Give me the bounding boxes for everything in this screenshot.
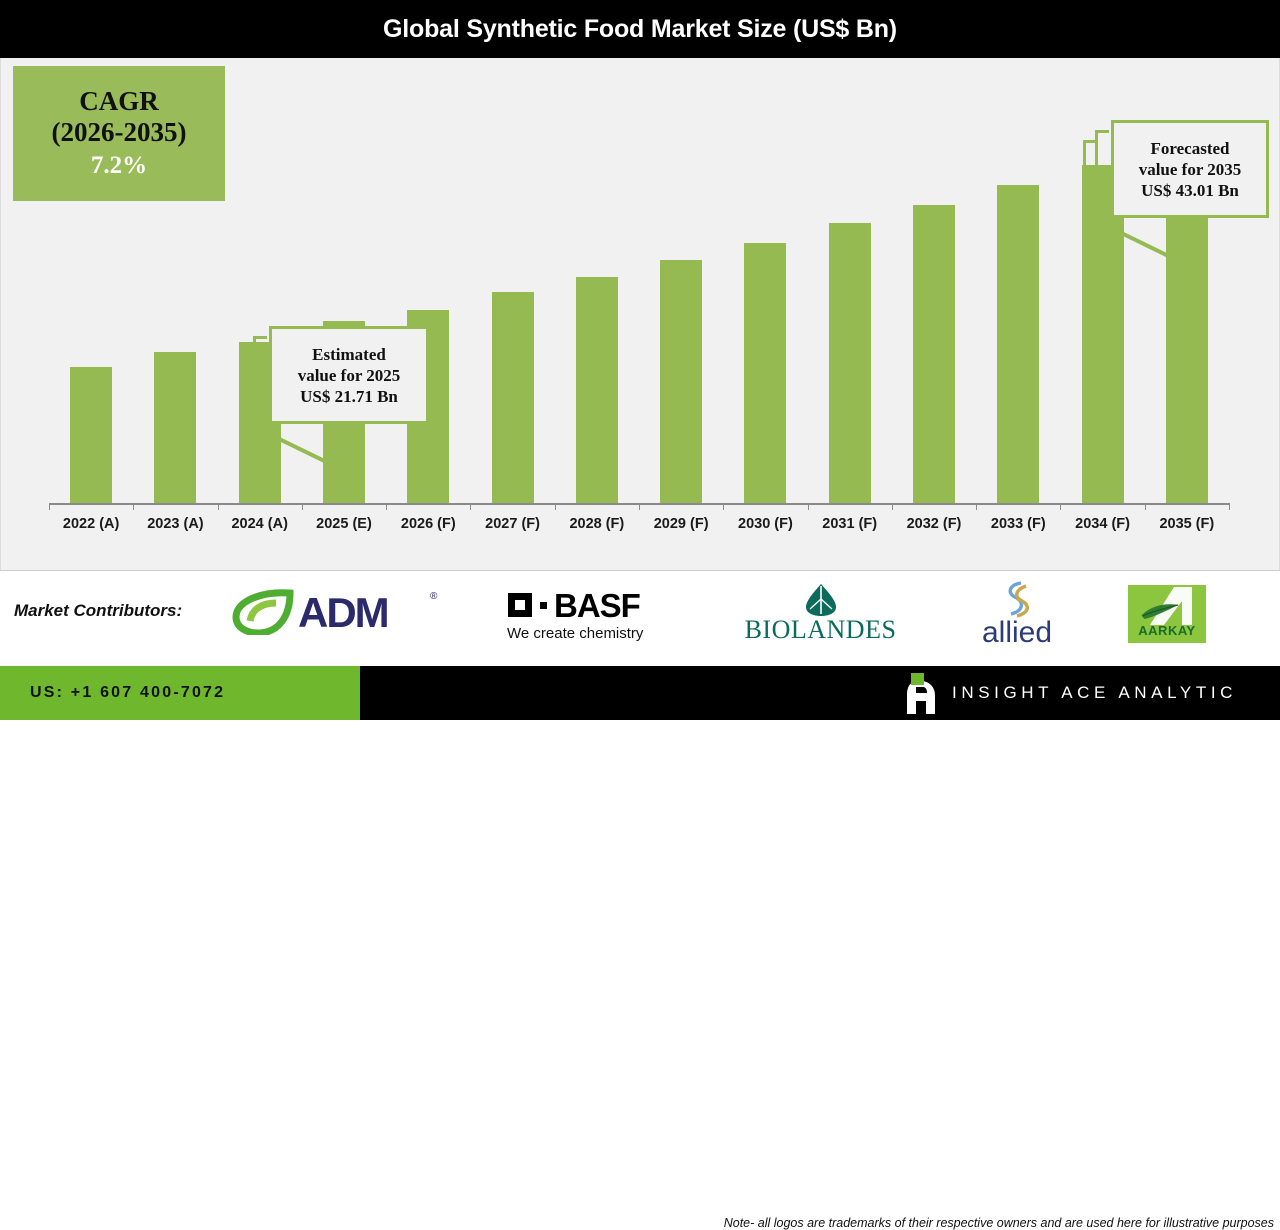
callout-2025-line1: Estimated — [312, 344, 386, 365]
chart-panel: CAGR (2026-2035) 7.2% 2022 (A)2023 (A)20… — [0, 58, 1280, 570]
aarkay-wordmark: AARKAY — [1128, 623, 1206, 638]
logo-allied: allied — [962, 583, 1072, 647]
x-label-2032: 2032 (F) — [892, 510, 976, 538]
x-label-2024: 2024 (A) — [218, 510, 302, 538]
axis-tick — [386, 503, 387, 510]
logo-biolandes: BIOLANDES — [733, 583, 908, 647]
x-label-2030: 2030 (F) — [723, 510, 807, 538]
trademark-note: Note- all logos are trademarks of their … — [640, 1216, 1274, 1230]
callout-2035-line2: value for 2035 — [1139, 159, 1242, 180]
footer-brand: INSIGHT ACE ANALYTIC — [952, 666, 1237, 720]
x-label-2028: 2028 (F) — [555, 510, 639, 538]
axis-tick — [555, 503, 556, 510]
callout-2025-line2: value for 2025 — [298, 365, 401, 386]
page-title: Global Synthetic Food Market Size (US$ B… — [0, 0, 1280, 58]
logo-aarkay: AARKAY — [1128, 585, 1206, 643]
bar-2032 — [913, 205, 955, 503]
adm-leaf-icon — [232, 589, 294, 635]
x-label-2035: 2035 (F) — [1145, 510, 1229, 538]
x-label-2025: 2025 (E) — [302, 510, 386, 538]
axis-tick — [639, 503, 640, 510]
bar-2027 — [492, 292, 534, 503]
basf-wordmark: BASF — [554, 587, 640, 625]
axis-tick — [133, 503, 134, 510]
callout-bracket-inner-2025 — [253, 336, 267, 424]
adm-wordmark: ADM — [298, 589, 388, 637]
bar-2030 — [744, 243, 786, 503]
biolandes-wordmark: BIOLANDES — [733, 615, 908, 645]
x-label-2029: 2029 (F) — [639, 510, 723, 538]
x-label-2026: 2026 (F) — [386, 510, 470, 538]
insightace-logo-icon — [905, 673, 941, 715]
bar-chart-plot: 2022 (A)2023 (A)2024 (A)2025 (E)2026 (F)… — [1, 58, 1280, 570]
basf-square-icon — [508, 593, 532, 617]
x-label-2022: 2022 (A) — [49, 510, 133, 538]
axis-tick — [470, 503, 471, 510]
callout-bracket-outer-2025 — [241, 346, 253, 424]
callout-bracket-outer-2035 — [1083, 140, 1095, 218]
logo-basf: BASF We create chemistry — [502, 585, 672, 645]
basf-dot-icon — [540, 602, 547, 609]
callout-2035-line3: US$ 43.01 Bn — [1141, 180, 1239, 201]
axis-tick — [892, 503, 893, 510]
bar-2031 — [829, 223, 871, 503]
allied-ribbon-icon — [993, 581, 1041, 619]
biolandes-droplet-icon — [801, 583, 841, 617]
bar-2023 — [154, 352, 196, 503]
x-label-2034: 2034 (F) — [1060, 510, 1144, 538]
callout-2035-line1: Forecasted — [1151, 138, 1230, 159]
contributors-strip: Market Contributors: ADM ® BASF We creat… — [0, 570, 1280, 666]
axis-tick — [1145, 503, 1146, 510]
callout-bracket-inner-2035 — [1095, 130, 1109, 218]
x-label-2031: 2031 (F) — [808, 510, 892, 538]
basf-tagline: We create chemistry — [507, 625, 643, 642]
callout-forecasted-2035: Forecasted value for 2035 US$ 43.01 Bn — [1111, 120, 1269, 218]
footer-phone[interactable]: US: +1 607 400-7072 — [30, 666, 225, 720]
allied-wordmark: allied — [962, 616, 1072, 650]
axis-tick — [302, 503, 303, 510]
market-contributors-label: Market Contributors: — [14, 601, 182, 621]
adm-registered-mark: ® — [430, 591, 437, 602]
axis-tick — [1229, 503, 1230, 510]
axis-tick — [218, 503, 219, 510]
title-bar: Global Synthetic Food Market Size (US$ B… — [0, 0, 1280, 58]
axis-tick — [1060, 503, 1061, 510]
axis-tick — [976, 503, 977, 510]
callout-estimated-2025: Estimated value for 2025 US$ 21.71 Bn — [269, 326, 429, 424]
x-label-2023: 2023 (A) — [133, 510, 217, 538]
bar-2022 — [70, 367, 112, 503]
x-label-2033: 2033 (F) — [976, 510, 1060, 538]
bar-2033 — [997, 185, 1039, 503]
axis-tick — [723, 503, 724, 510]
bar-2029 — [660, 260, 702, 503]
logo-adm: ADM ® — [232, 589, 437, 637]
axis-tick — [49, 503, 50, 510]
axis-tick — [808, 503, 809, 510]
x-label-2027: 2027 (F) — [470, 510, 554, 538]
callout-2025-line3: US$ 21.71 Bn — [300, 386, 398, 407]
footer-bar: US: +1 607 400-7072 INSIGHT ACE ANALYTIC — [0, 666, 1280, 720]
bar-2028 — [576, 277, 618, 503]
insightace-logo-square — [911, 673, 924, 685]
